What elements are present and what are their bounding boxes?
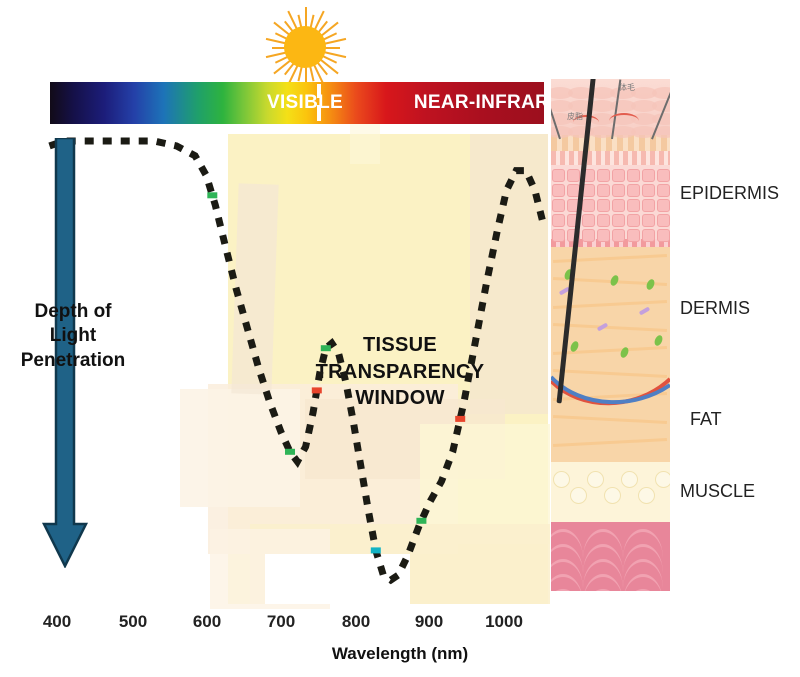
keratinocyte xyxy=(597,229,610,242)
keratinocyte xyxy=(612,199,625,212)
keratinocyte xyxy=(642,214,655,227)
adipocyte xyxy=(587,471,604,488)
depth-label-line-3: Penetration xyxy=(21,350,126,371)
keratinocyte xyxy=(552,229,565,242)
xtick-600: 600 xyxy=(177,612,237,632)
keratinocyte xyxy=(642,229,655,242)
keratinocyte xyxy=(627,214,640,227)
sun-core xyxy=(284,26,326,68)
tissue-transparency-window-caption: TISSUE TRANSPARENCY WINDOW xyxy=(300,332,500,412)
keratinocyte xyxy=(597,199,610,212)
sebum-arrow-right xyxy=(609,113,639,129)
xtick-1000: 1000 xyxy=(474,612,534,632)
figure-canvas: VISIBLE NEAR-INFRARED TISSUE TRANSPARENC… xyxy=(0,0,800,677)
keratinocyte xyxy=(657,199,670,212)
visible-nir-divider-lower xyxy=(317,105,321,121)
keratinocyte xyxy=(657,169,670,182)
transparency-window-shade-lower-left-2 xyxy=(180,389,300,507)
transparency-window-streak-2 xyxy=(350,124,380,164)
keratinocyte xyxy=(597,184,610,197)
keratinocyte xyxy=(612,169,625,182)
keratinocyte xyxy=(627,199,640,212)
adipocyte xyxy=(570,487,587,504)
keratinocyte xyxy=(552,214,565,227)
hair-annotation-cjk: 体毛 xyxy=(619,82,635,93)
electromagnetic-spectrum-bar: VISIBLE NEAR-INFRARED xyxy=(50,82,544,124)
keratinocyte xyxy=(582,214,595,227)
keratinocyte xyxy=(597,169,610,182)
visible-band-label: VISIBLE xyxy=(250,82,360,124)
keratinocyte xyxy=(567,169,580,182)
keratinocyte xyxy=(582,229,595,242)
transparency-window-cutout-bottom xyxy=(265,554,410,604)
keratinocyte xyxy=(597,214,610,227)
deep-vascular-plexus xyxy=(551,369,670,419)
depth-label-line-1: Depth of xyxy=(34,301,111,322)
keratinocyte xyxy=(552,184,565,197)
skin-label-dermis: DERMIS xyxy=(680,298,750,319)
skin-label-epidermis: EPIDERMIS xyxy=(680,183,779,204)
keratinocyte xyxy=(612,229,625,242)
keratinocyte xyxy=(552,169,565,182)
keratinocyte xyxy=(642,199,655,212)
adipocyte xyxy=(638,487,655,504)
keratinocyte xyxy=(642,184,655,197)
keratinocyte xyxy=(612,184,625,197)
sebum-annotation-cjk: 皮脂 xyxy=(567,111,583,122)
keratinocyte xyxy=(657,229,670,242)
keratinocyte xyxy=(627,169,640,182)
xtick-500: 500 xyxy=(103,612,163,632)
caption-line-1: TISSUE xyxy=(363,334,437,356)
keratinocyte xyxy=(627,184,640,197)
xtick-400: 400 xyxy=(27,612,87,632)
keratinocyte xyxy=(657,214,670,227)
transparency-window-streak-1 xyxy=(231,183,278,394)
sun-icon xyxy=(249,4,351,90)
caption-line-2: TRANSPARENCY xyxy=(316,361,485,383)
adipocyte xyxy=(655,471,670,488)
keratinocyte xyxy=(627,229,640,242)
depth-label-line-2: Light xyxy=(50,325,96,346)
xtick-700: 700 xyxy=(251,612,311,632)
keratinocyte xyxy=(642,169,655,182)
adipocyte xyxy=(553,471,570,488)
xtick-900: 900 xyxy=(399,612,459,632)
keratinocyte xyxy=(582,199,595,212)
skin-label-muscle: MUSCLE xyxy=(680,481,755,502)
adipocyte xyxy=(621,471,638,488)
caption-line-3: WINDOW xyxy=(355,387,445,409)
keratinocyte xyxy=(657,184,670,197)
keratinocyte xyxy=(612,214,625,227)
visible-nir-divider-upper xyxy=(317,84,321,98)
xtick-800: 800 xyxy=(326,612,386,632)
depth-of-light-penetration-label: Depth of Light Penetration xyxy=(0,300,146,373)
x-axis-title: Wavelength (nm) xyxy=(280,644,520,664)
keratinocyte xyxy=(552,199,565,212)
skin-label-fat: FAT xyxy=(690,409,722,430)
skin-cross-section-illustration: 体毛 皮脂 xyxy=(551,79,670,591)
adipocyte xyxy=(604,487,621,504)
